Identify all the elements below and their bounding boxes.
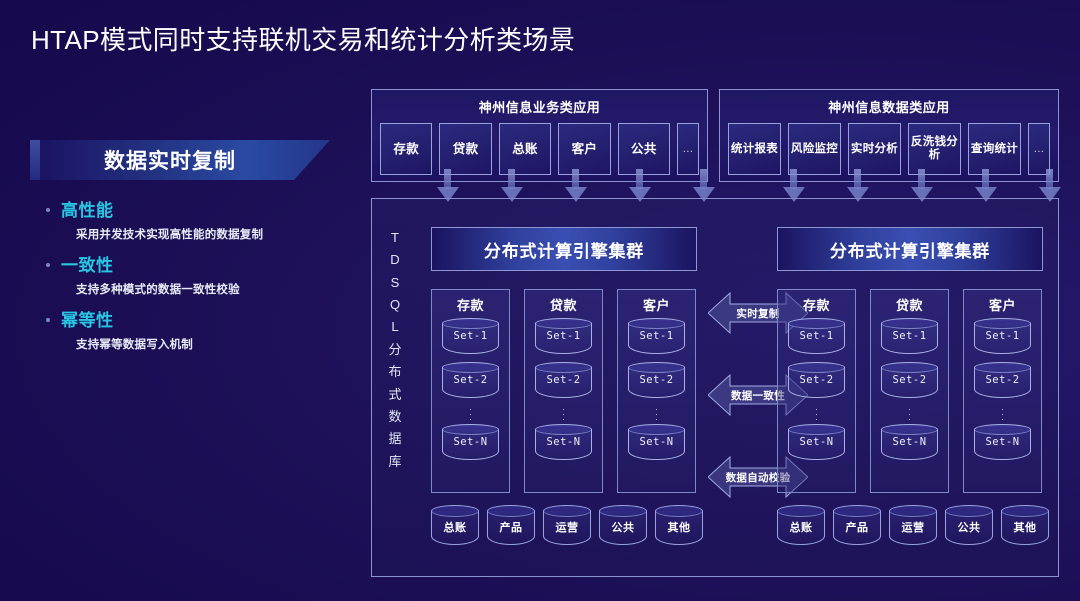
bullet-title: 幂等性	[61, 306, 114, 331]
set-column-group: 存款 Set-1 Set-2 ... Set-N 贷款 Set-1 Set-2 …	[777, 289, 1042, 493]
app-chip-more[interactable]: …	[1028, 123, 1050, 175]
section-banner: 数据实时复制	[30, 140, 330, 180]
set-cylinder: Set-2	[974, 362, 1031, 402]
app-chip-more[interactable]: …	[677, 123, 699, 175]
tdsql-label-char: 分	[388, 339, 401, 361]
tdsql-panel: T D S Q L 分 布 式 数 据 库 分布式计算引擎集群	[371, 198, 1059, 577]
tdsql-vertical-label: T D S Q L 分 布 式 数 据 库	[382, 227, 408, 473]
down-arrow-icon	[698, 169, 709, 202]
set-cylinder: Set-2	[881, 362, 938, 402]
set-label: Set-N	[881, 436, 938, 448]
app-box-title: 神州信息业务类应用	[372, 97, 707, 116]
banner-label: 数据实时复制	[30, 140, 330, 180]
bottom-cylinder-label: 运营	[543, 519, 591, 535]
app-chip[interactable]: 查询统计	[968, 123, 1021, 175]
set-label: Set-1	[535, 330, 592, 342]
set-cylinder: Set-2	[535, 362, 592, 402]
bullet-dot-icon	[46, 318, 50, 322]
set-column-title: 客户	[618, 295, 695, 314]
app-chip[interactable]: 风险监控	[788, 123, 841, 175]
set-label: Set-1	[628, 330, 685, 342]
tdsql-label-char: L	[391, 316, 398, 338]
set-column: 客户 Set-1 Set-2 ... Set-N	[617, 289, 696, 493]
tdsql-cluster-left: 分布式计算引擎集群 存款 Set-1 Set-2 ... Set-N 贷款 Se…	[420, 199, 708, 578]
vertical-ellipsis-icon: ...	[432, 405, 509, 420]
bottom-cylinder: 其他	[1001, 505, 1049, 549]
tdsql-label-char: 据	[388, 428, 401, 450]
app-chip[interactable]: 公共	[618, 123, 670, 175]
page-title: HTAP模式同时支持联机交易和统计分析类场景	[31, 20, 575, 57]
set-label: Set-1	[974, 330, 1031, 342]
vertical-ellipsis-icon: ...	[525, 405, 602, 420]
set-label: Set-1	[442, 330, 499, 342]
set-label: Set-N	[788, 436, 845, 448]
bottom-cylinder-label: 总账	[431, 519, 479, 535]
tdsql-label-char: D	[390, 249, 399, 271]
list-item: 幂等性 支持幂等数据写入机制	[46, 306, 360, 352]
bottom-cylinder-row: 总账 产品 运营 公共 其他	[431, 505, 703, 549]
set-cylinder: Set-1	[442, 318, 499, 358]
app-chip-row: 存款 贷款 总账 客户 公共 …	[372, 123, 707, 175]
set-column: 存款 Set-1 Set-2 ... Set-N	[777, 289, 856, 493]
bottom-cylinder-label: 公共	[599, 519, 647, 535]
set-column: 贷款 Set-1 Set-2 ... Set-N	[870, 289, 949, 493]
tdsql-label-char: 式	[388, 384, 401, 406]
feature-bullet-list: 高性能 采用并发技术实现高性能的数据复制 一致性 支持多种模式的数据一致性校验 …	[0, 196, 360, 352]
set-label: Set-N	[442, 436, 499, 448]
left-feature-panel: 数据实时复制 高性能 采用并发技术实现高性能的数据复制 一致性 支持多种模式的数…	[0, 140, 360, 410]
set-cylinder: Set-1	[974, 318, 1031, 358]
app-box-title: 神州信息数据类应用	[720, 97, 1058, 116]
set-label: Set-2	[442, 374, 499, 386]
bullet-description: 支持多种模式的数据一致性校验	[76, 281, 360, 297]
set-label: Set-N	[628, 436, 685, 448]
bullet-title: 高性能	[61, 196, 114, 221]
slide-canvas: HTAP模式同时支持联机交易和统计分析类场景 数据实时复制 高性能 采用并发技术…	[0, 0, 1080, 601]
set-cylinder: Set-N	[628, 424, 685, 464]
down-arrow-icon	[980, 169, 991, 202]
app-chip[interactable]: 总账	[499, 123, 551, 175]
bottom-cylinder-label: 产品	[487, 519, 535, 535]
set-cylinder: Set-2	[788, 362, 845, 402]
set-column-title: 存款	[778, 295, 855, 314]
bottom-cylinder: 运营	[543, 505, 591, 549]
bullet-title: 一致性	[61, 251, 114, 276]
down-arrow-icon	[634, 169, 645, 202]
set-label: Set-N	[535, 436, 592, 448]
set-cylinder: Set-N	[974, 424, 1031, 464]
app-chip-row: 统计报表 风险监控 实时分析 反洗钱分析 查询统计 …	[720, 123, 1058, 175]
app-chip[interactable]: 客户	[558, 123, 610, 175]
tdsql-label-char: T	[391, 227, 399, 249]
vertical-ellipsis-icon: ...	[871, 405, 948, 420]
ingest-arrow-row	[442, 169, 709, 202]
set-column: 客户 Set-1 Set-2 ... Set-N	[963, 289, 1042, 493]
bottom-cylinder: 总账	[431, 505, 479, 549]
app-chip[interactable]: 存款	[380, 123, 432, 175]
set-label: Set-2	[535, 374, 592, 386]
tdsql-cluster-right: 分布式计算引擎集群 存款 Set-1 Set-2 ... Set-N 贷款 Se…	[766, 199, 1054, 578]
bottom-cylinder: 其他	[655, 505, 703, 549]
tdsql-label-char: 数	[388, 406, 401, 428]
down-arrow-icon	[1044, 169, 1055, 202]
bottom-cylinder-label: 公共	[945, 519, 993, 535]
bottom-cylinder: 总账	[777, 505, 825, 549]
set-label: Set-2	[788, 374, 845, 386]
vertical-ellipsis-icon: ...	[618, 405, 695, 420]
set-column-title: 客户	[964, 295, 1041, 314]
set-cylinder: Set-N	[788, 424, 845, 464]
set-cylinder: Set-N	[881, 424, 938, 464]
down-arrow-icon	[506, 169, 517, 202]
set-label: Set-1	[788, 330, 845, 342]
set-label: Set-2	[974, 374, 1031, 386]
bottom-cylinder: 公共	[599, 505, 647, 549]
down-arrow-icon	[788, 169, 799, 202]
bottom-cylinder: 运营	[889, 505, 937, 549]
set-cylinder: Set-1	[881, 318, 938, 358]
set-column-title: 存款	[432, 295, 509, 314]
set-column: 存款 Set-1 Set-2 ... Set-N	[431, 289, 510, 493]
list-item: 一致性 支持多种模式的数据一致性校验	[46, 251, 360, 297]
bottom-cylinder: 产品	[833, 505, 881, 549]
set-column-title: 贷款	[871, 295, 948, 314]
set-cylinder: Set-1	[535, 318, 592, 358]
bottom-cylinder-row: 总账 产品 运营 公共 其他	[777, 505, 1049, 549]
bullet-dot-icon	[46, 208, 50, 212]
tdsql-label-char: 库	[388, 451, 401, 473]
set-label: Set-N	[974, 436, 1031, 448]
compute-engine-box: 分布式计算引擎集群	[777, 227, 1043, 271]
bullet-dot-icon	[46, 263, 50, 267]
app-chip[interactable]: 实时分析	[848, 123, 901, 175]
set-column-title: 贷款	[525, 295, 602, 314]
bullet-description: 采用并发技术实现高性能的数据复制	[76, 226, 360, 242]
set-cylinder: Set-2	[442, 362, 499, 402]
set-cylinder: Set-1	[788, 318, 845, 358]
down-arrow-icon	[916, 169, 927, 202]
set-column-group: 存款 Set-1 Set-2 ... Set-N 贷款 Set-1 Set-2 …	[431, 289, 696, 493]
set-cylinder: Set-N	[442, 424, 499, 464]
bottom-cylinder-label: 其他	[1001, 519, 1049, 535]
set-label: Set-2	[628, 374, 685, 386]
bottom-cylinder-label: 运营	[889, 519, 937, 535]
set-label: Set-2	[881, 374, 938, 386]
bottom-cylinder-label: 总账	[777, 519, 825, 535]
set-label: Set-1	[881, 330, 938, 342]
down-arrow-icon	[852, 169, 863, 202]
vertical-ellipsis-icon: ...	[964, 405, 1041, 420]
list-item: 高性能 采用并发技术实现高性能的数据复制	[46, 196, 360, 242]
compute-engine-box: 分布式计算引擎集群	[431, 227, 697, 271]
tdsql-label-char: 布	[388, 361, 401, 383]
bottom-cylinder: 公共	[945, 505, 993, 549]
tdsql-label-char: S	[391, 272, 400, 294]
bottom-cylinder-label: 产品	[833, 519, 881, 535]
bottom-cylinder: 产品	[487, 505, 535, 549]
vertical-ellipsis-icon: ...	[778, 405, 855, 420]
set-cylinder: Set-2	[628, 362, 685, 402]
app-chip[interactable]: 统计报表	[728, 123, 781, 175]
app-chip[interactable]: 贷款	[439, 123, 491, 175]
ingest-arrow-row	[788, 169, 1055, 202]
set-cylinder: Set-1	[628, 318, 685, 358]
set-cylinder: Set-N	[535, 424, 592, 464]
set-column: 贷款 Set-1 Set-2 ... Set-N	[524, 289, 603, 493]
app-chip[interactable]: 反洗钱分析	[908, 123, 961, 175]
down-arrow-icon	[442, 169, 453, 202]
bullet-description: 支持幂等数据写入机制	[76, 336, 360, 352]
bottom-cylinder-label: 其他	[655, 519, 703, 535]
down-arrow-icon	[570, 169, 581, 202]
tdsql-label-char: Q	[390, 294, 400, 316]
